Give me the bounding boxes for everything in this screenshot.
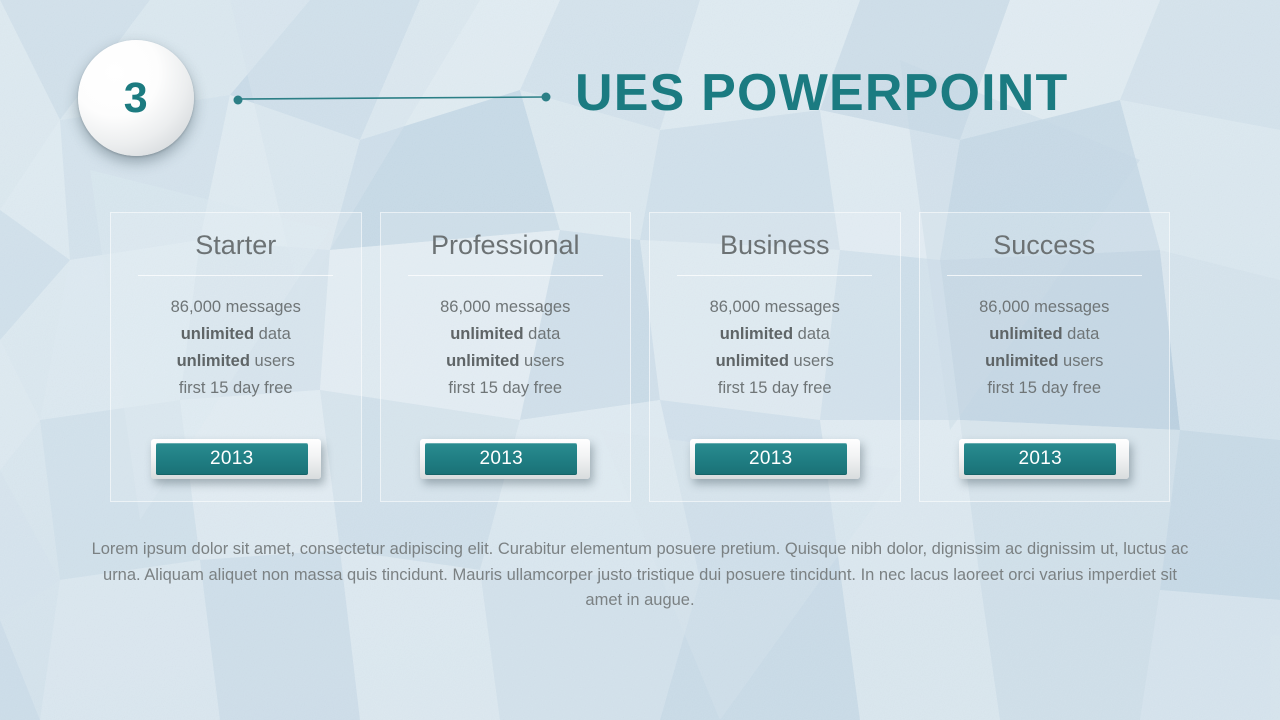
feature-data-text: data [793,325,830,343]
page-title: UES POWERPOINT [575,63,1069,123]
feature-users-emphasis: unlimited [446,352,519,370]
card-divider [947,275,1142,276]
card-button-plate: 2013 [690,439,860,479]
feature-messages: 86,000 messages [710,298,840,316]
card-features: 86,000 messages unlimited data unlimited… [979,298,1109,398]
card-title: Success [993,231,1095,261]
feature-data-text: data [1063,325,1100,343]
feature-data-emphasis: unlimited [450,325,523,343]
card-button-plate: 2013 [420,439,590,479]
card-divider [138,275,333,276]
feature-data-text: data [254,325,291,343]
pricing-card-professional[interactable]: Professional 86,000 messages unlimited d… [380,212,632,502]
card-divider [408,275,603,276]
pricing-card-business[interactable]: Business 86,000 messages unlimited data … [649,212,901,502]
feature-users-text: users [250,352,295,370]
feature-users: unlimited users [446,352,564,370]
feature-data: unlimited data [720,325,830,343]
feature-data: unlimited data [181,325,291,343]
card-button-plate: 2013 [959,439,1129,479]
slide-number-badge: 3 [78,40,194,156]
card-title: Starter [195,231,276,261]
feature-users-text: users [1058,352,1103,370]
feature-messages: 86,000 messages [171,298,301,316]
card-button[interactable]: 2013 [425,443,577,475]
pricing-card-starter[interactable]: Starter 86,000 messages unlimited data u… [110,212,362,502]
card-button[interactable]: 2013 [156,443,308,475]
card-features: 86,000 messages unlimited data unlimited… [710,298,840,398]
feature-data-text: data [524,325,561,343]
slide-number: 3 [124,77,148,120]
feature-data-emphasis: unlimited [181,325,254,343]
card-title: Business [720,231,830,261]
connector-line [230,88,555,110]
feature-trial: first 15 day free [718,379,832,397]
feature-users-text: users [519,352,564,370]
feature-trial: first 15 day free [987,379,1101,397]
feature-users: unlimited users [985,352,1103,370]
feature-users-emphasis: unlimited [716,352,789,370]
feature-trial: first 15 day free [448,379,562,397]
feature-messages: 86,000 messages [440,298,570,316]
feature-data-emphasis: unlimited [989,325,1062,343]
card-features: 86,000 messages unlimited data unlimited… [440,298,570,398]
card-features: 86,000 messages unlimited data unlimited… [171,298,301,398]
pricing-card-success[interactable]: Success 86,000 messages unlimited data u… [919,212,1171,502]
feature-users: unlimited users [177,352,295,370]
footer-paragraph: Lorem ipsum dolor sit amet, consectetur … [88,537,1192,614]
card-button-plate: 2013 [151,439,321,479]
feature-data: unlimited data [989,325,1099,343]
feature-users-text: users [789,352,834,370]
feature-users: unlimited users [716,352,834,370]
card-button[interactable]: 2013 [695,443,847,475]
feature-messages: 86,000 messages [979,298,1109,316]
feature-trial: first 15 day free [179,379,293,397]
feature-users-emphasis: unlimited [177,352,250,370]
feature-data-emphasis: unlimited [720,325,793,343]
card-title: Professional [431,231,580,261]
feature-data: unlimited data [450,325,560,343]
feature-users-emphasis: unlimited [985,352,1058,370]
slide: 3 UES POWERPOINT Starter 86,000 messages… [0,0,1280,720]
card-divider [677,275,872,276]
pricing-cards: Starter 86,000 messages unlimited data u… [110,212,1170,502]
card-button[interactable]: 2013 [964,443,1116,475]
